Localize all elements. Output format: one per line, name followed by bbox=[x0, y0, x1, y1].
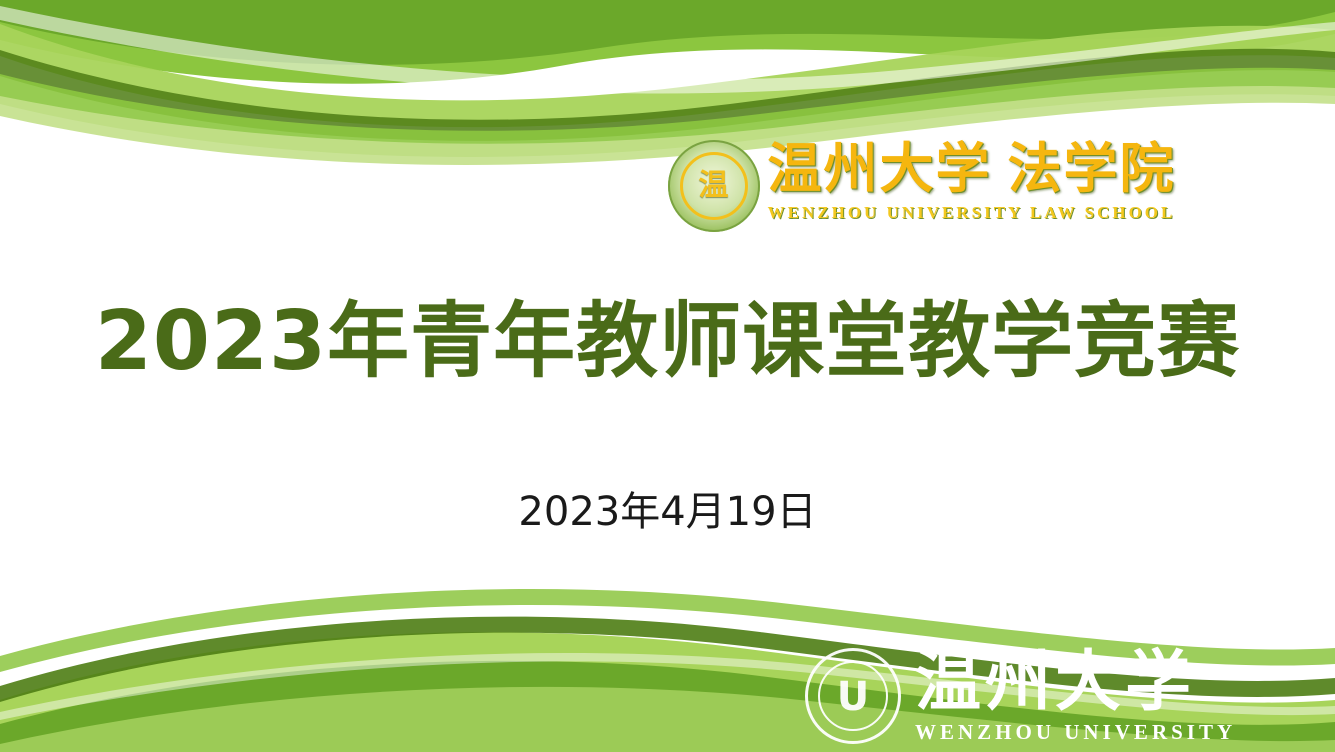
logo-cn-part2: 法学院 bbox=[1008, 137, 1176, 200]
watermark-seal-glyph: U bbox=[808, 651, 898, 741]
logo-english-name: WENZHOU UNIVERSITY LAW SCHOOL bbox=[768, 202, 1176, 224]
watermark-text: 温州大学 WENZHOU UNIVERSITY bbox=[915, 644, 1236, 744]
university-seal-icon: 温 bbox=[668, 140, 760, 232]
seal-glyph: 温 bbox=[668, 140, 760, 232]
logo-text: 温州大学法学院 WENZHOU UNIVERSITY LAW SCHOOL bbox=[768, 138, 1176, 224]
slide-title: 2023年青年教师课堂教学竞赛 bbox=[0, 292, 1335, 392]
watermark-logo: U 温州大学 WENZHOU UNIVERSITY bbox=[805, 640, 1325, 748]
watermark-english-name: WENZHOU UNIVERSITY bbox=[915, 720, 1236, 744]
logo-block: 温 温州大学法学院 WENZHOU UNIVERSITY LAW SCHOOL bbox=[0, 138, 1335, 245]
logo-chinese-name: 温州大学法学院 bbox=[768, 138, 1176, 200]
watermark-chinese-name: 温州大学 bbox=[915, 644, 1236, 720]
watermark-seal-icon: U bbox=[805, 648, 901, 744]
presentation-slide: 温 温州大学法学院 WENZHOU UNIVERSITY LAW SCHOOL … bbox=[0, 0, 1335, 752]
logo-cn-part1: 温州大学 bbox=[768, 137, 992, 200]
slide-date: 2023年4月19日 bbox=[0, 484, 1335, 540]
